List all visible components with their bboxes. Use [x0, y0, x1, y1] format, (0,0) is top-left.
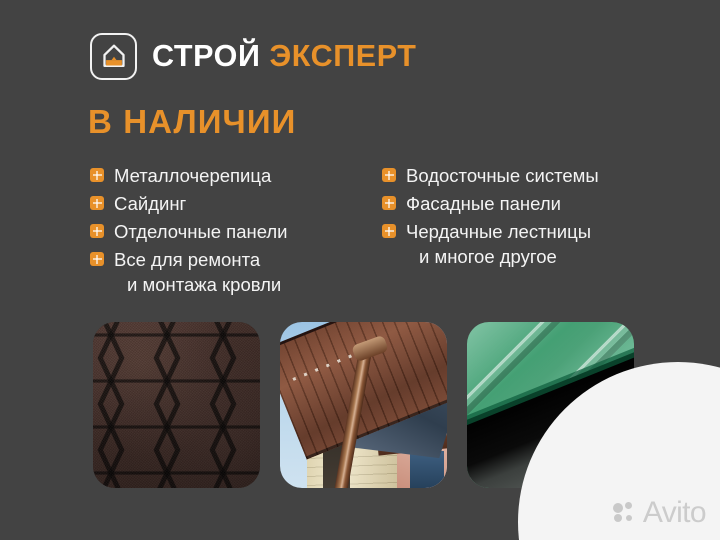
plus-square-icon: [382, 196, 396, 210]
plus-square-icon: [382, 224, 396, 238]
list-item: Фасадные панели: [382, 191, 660, 216]
logo-wordmark: СТРОЙ ЭКСПЕРТ: [152, 41, 416, 72]
plus-square-icon: [382, 168, 396, 182]
list-item-line2: и монтажа кровли: [114, 272, 281, 297]
list-item-line2: и многое другое: [406, 244, 591, 269]
list-item-label: Металлочерепица: [114, 163, 271, 188]
list-item-label: Чердачные лестницы и многое другое: [406, 219, 591, 269]
metal-sheet-scene: [467, 322, 634, 488]
list-item: Сайдинг: [90, 191, 382, 216]
plus-square-icon: [90, 224, 104, 238]
feature-column-right: Водосточные системы Фасадные панели Черд…: [382, 163, 660, 297]
shingle-shading: [93, 322, 260, 488]
roof-eave-gutter-photo: [280, 322, 447, 488]
list-item-label: Сайдинг: [114, 191, 186, 216]
bitumen-shingle-photo: [93, 322, 260, 488]
product-photo-strip: [93, 322, 634, 488]
page-title: В НАЛИЧИИ: [88, 105, 296, 138]
list-item-line1: Все для ремонта: [114, 249, 260, 270]
avito-dots-icon: [613, 502, 637, 524]
feature-lists: Металлочерепица Сайдинг Отделочные панел…: [90, 163, 660, 297]
logo-word-stroy: СТРОЙ: [152, 41, 260, 72]
logo-word-expert: ЭКСПЕРТ: [269, 41, 416, 72]
list-item: Все для ремонта и монтажа кровли: [90, 247, 382, 297]
list-item-line1: Чердачные лестницы: [406, 221, 591, 242]
avito-wordmark: Avito: [643, 498, 706, 528]
plus-square-icon: [90, 196, 104, 210]
list-item: Отделочные панели: [90, 219, 382, 244]
poster-canvas: СТРОЙ ЭКСПЕРТ В НАЛИЧИИ Металлочерепица …: [0, 0, 720, 540]
list-item: Водосточные системы: [382, 163, 660, 188]
plus-square-icon: [90, 252, 104, 266]
plus-square-icon: [90, 168, 104, 182]
eave-scene: [280, 322, 447, 488]
list-item: Металлочерепица: [90, 163, 382, 188]
list-item-label: Фасадные панели: [406, 191, 561, 216]
green-metal-profile-photo: [467, 322, 634, 488]
avito-watermark: Avito: [613, 498, 706, 528]
list-item-label: Все для ремонта и монтажа кровли: [114, 247, 281, 297]
list-item: Чердачные лестницы и многое другое: [382, 219, 660, 269]
house-in-rounded-square-icon: [90, 33, 137, 80]
list-item-label: Водосточные системы: [406, 163, 599, 188]
list-item-label: Отделочные панели: [114, 219, 288, 244]
brand-logo: СТРОЙ ЭКСПЕРТ: [90, 28, 416, 84]
feature-column-left: Металлочерепица Сайдинг Отделочные панел…: [90, 163, 382, 297]
